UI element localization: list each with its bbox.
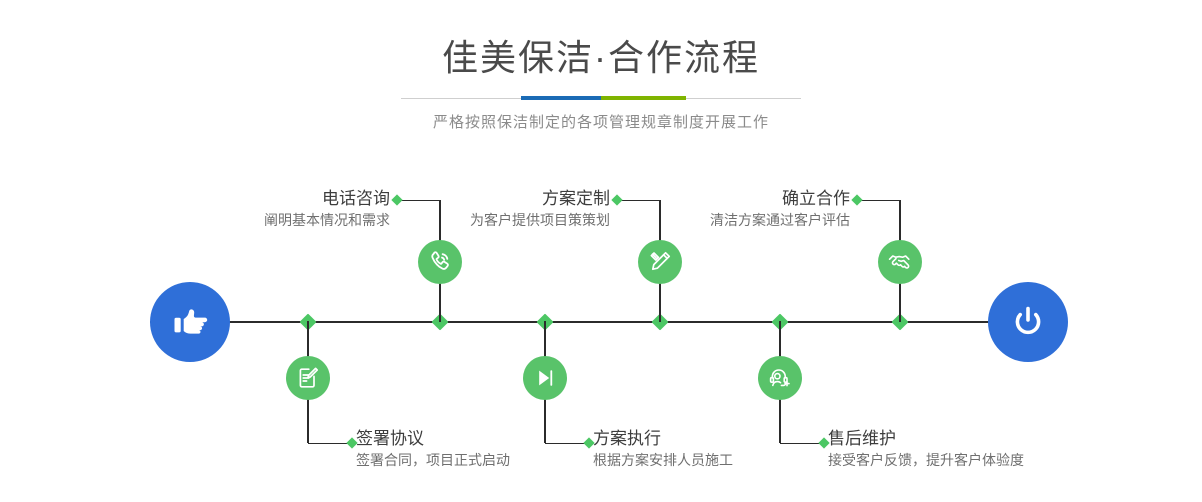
step-2-elbow — [308, 443, 352, 444]
step-3-elbow — [616, 200, 660, 201]
step-5-icon-badge — [878, 240, 922, 284]
pencil-design-icon — [647, 249, 673, 275]
power-icon — [1006, 300, 1050, 344]
timeline-start-node — [150, 282, 230, 362]
step-1-title: 电话咨询 — [200, 187, 390, 210]
divider-blue-segment — [521, 96, 601, 100]
timeline-end-node — [988, 282, 1068, 362]
step-2-title: 签署协议 — [356, 427, 586, 450]
step-6-label: 售后维护 接受客户反馈，提升客户体验度 — [828, 427, 1098, 471]
divider-green-segment — [601, 96, 686, 100]
step-4-desc: 根据方案安排人员施工 — [593, 450, 823, 471]
timeline-axis — [150, 321, 1052, 323]
step-2-label: 签署协议 签署合同，项目正式启动 — [356, 427, 586, 471]
step-1-icon-badge — [418, 240, 462, 284]
step-4-icon-badge — [523, 356, 567, 400]
title-divider — [401, 92, 801, 106]
step-2-icon-badge — [286, 356, 330, 400]
page-title: 佳美保洁·合作流程 — [0, 0, 1202, 80]
step-5-label: 确立合作 清洁方案通过客户评估 — [660, 187, 850, 231]
handshake-icon — [887, 249, 913, 275]
step-2-desc: 签署合同，项目正式启动 — [356, 450, 586, 471]
step-3-icon-badge — [638, 240, 682, 284]
step-4-title: 方案执行 — [593, 427, 823, 450]
cooperation-process-infographic: 佳美保洁·合作流程 严格按照保洁制定的各项管理规章制度开展工作 — [0, 0, 1202, 502]
step-4-label: 方案执行 根据方案安排人员施工 — [593, 427, 823, 471]
step-6-icon-badge — [758, 356, 802, 400]
step-1-label: 电话咨询 阐明基本情况和需求 — [200, 187, 390, 231]
step-4-elbow — [545, 443, 589, 444]
step-5-tip — [851, 194, 862, 205]
step-1-tip — [391, 194, 402, 205]
step-1-desc: 阐明基本情况和需求 — [200, 210, 390, 231]
step-6-desc: 接受客户反馈，提升客户体验度 — [828, 450, 1098, 471]
pointing-hand-icon — [169, 301, 211, 343]
step-3-label: 方案定制 为客户提供项目策策划 — [420, 187, 610, 231]
step-5-elbow — [856, 200, 900, 201]
step-3-desc: 为客户提供项目策策划 — [420, 210, 610, 231]
step-6-elbow — [780, 443, 824, 444]
step-6-title: 售后维护 — [828, 427, 1098, 450]
page-subtitle: 严格按照保洁制定的各项管理规章制度开展工作 — [0, 106, 1202, 134]
step-3-title: 方案定制 — [420, 187, 610, 210]
step-5-desc: 清洁方案通过客户评估 — [660, 210, 850, 231]
phone-call-icon — [427, 249, 453, 275]
header: 佳美保洁·合作流程 严格按照保洁制定的各项管理规章制度开展工作 — [0, 0, 1202, 134]
step-3-tip — [611, 194, 622, 205]
play-execute-icon — [532, 365, 558, 391]
sign-document-icon — [295, 365, 321, 391]
headset-support-icon — [767, 365, 793, 391]
step-5-title: 确立合作 — [660, 187, 850, 210]
